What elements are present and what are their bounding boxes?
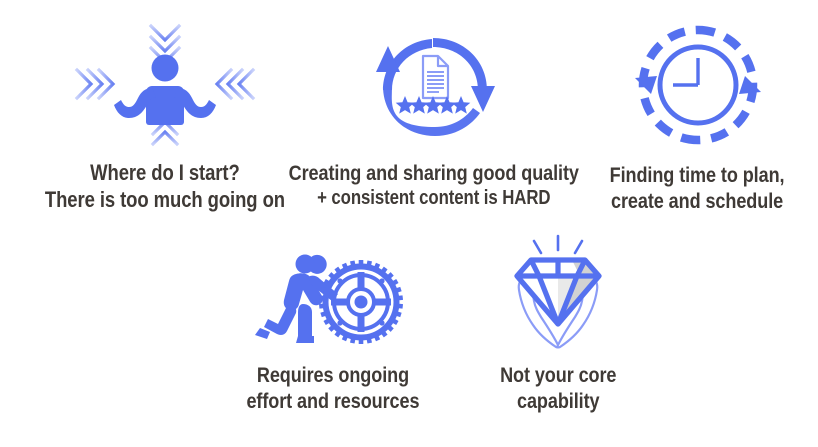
pain-point-card-quality: Creating and sharing good quality + cons… [296,28,571,211]
caption-line: Not your core [500,362,616,388]
caption-line: + consistent content is HARD [288,186,578,210]
card-caption: Where do I start? There is too much goin… [45,160,285,214]
icon-container [498,232,618,350]
card-caption: Requires ongoing effort and resources [247,362,420,414]
pain-points-graphic: Where do I start? There is too much goin… [0,0,818,447]
person-pushing-gear-icon [248,248,418,348]
gear-wheel [319,260,403,344]
caption-line: create and schedule [610,188,785,214]
icon-container [65,18,265,150]
card-caption: Finding time to plan, create and schedul… [610,162,785,214]
icon-container [359,28,509,146]
caption-line: There is too much going on [45,187,285,214]
pain-point-card-capability: Not your core capability [468,232,648,414]
shrugging-person-with-inward-chevrons-icon [65,18,265,150]
document-glyph [423,56,448,98]
pain-point-card-overwhelm: Where do I start? There is too much goin… [40,18,290,214]
caption-line: effort and resources [247,388,420,414]
caption-line: Requires ongoing [247,362,420,388]
diamond-in-hands-icon [498,232,618,350]
caption-line: Finding time to plan, [610,162,785,188]
card-caption: Creating and sharing good quality + cons… [288,160,578,211]
pain-point-card-time: Finding time to plan, create and schedul… [585,22,810,214]
circular-arrows-document-five-stars-icon [359,28,509,146]
card-caption: Not your core capability [500,362,616,414]
pain-point-card-effort: Requires ongoing effort and resources [228,248,438,414]
icon-container [248,248,418,348]
five-stars-rating [395,96,470,114]
sparkle-lines [534,236,582,253]
caption-line: Creating and sharing good quality [288,160,578,186]
clock-with-dashed-circular-arrows-icon [635,22,761,148]
caption-line: capability [500,388,616,414]
icon-container [635,22,761,148]
caption-line: Where do I start? [45,160,285,187]
